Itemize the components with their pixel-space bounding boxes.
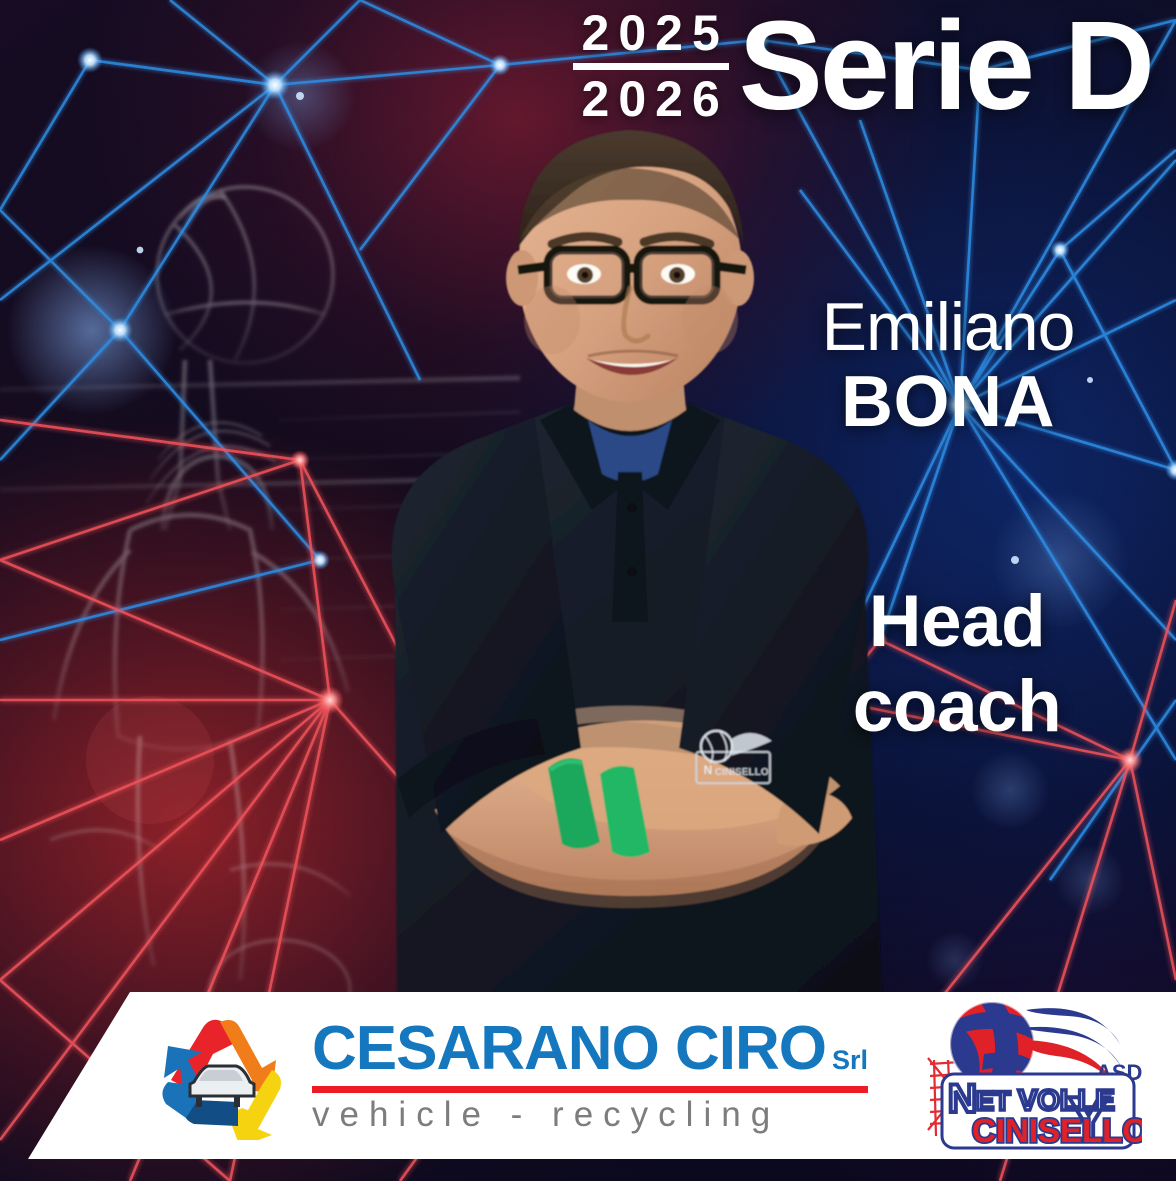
season-fraction: 2025 2026: [573, 8, 729, 124]
recycling-arrows-car-icon: [146, 1012, 296, 1140]
player-role-block: Head coach: [772, 580, 1142, 749]
player-name-block: Emiliano BONA: [748, 292, 1148, 440]
sponsor-tagline: vehicle - recycling: [312, 1096, 868, 1135]
club-logo[interactable]: ASD Y N ET VOLLE CINISELLO: [920, 998, 1142, 1158]
sponsor-name-row: CESARANO CIRO Srl: [312, 1018, 868, 1080]
club-name-city: CINISELLO: [972, 1112, 1142, 1149]
season-year-bottom: 2026: [573, 74, 729, 124]
player-role-line2: coach: [772, 665, 1142, 750]
sponsor-suffix: Srl: [832, 1047, 868, 1074]
season-year-top: 2025: [573, 8, 729, 58]
svg-text:CINISELLO: CINISELLO: [715, 767, 769, 778]
sponsor-divider-rule: [312, 1086, 868, 1093]
player-last-name: BONA: [748, 365, 1148, 441]
sponsor-text-block: CESARANO CIRO Srl vehicle - recycling: [312, 1018, 868, 1135]
sponsor-name: CESARANO CIRO: [312, 1018, 826, 1080]
poster-root: N CINISELLO 2025 2026 Serie D Emiliano B…: [0, 0, 1176, 1181]
league-title: Serie D: [739, 8, 1152, 124]
coach-photo: N CINISELLO: [300, 120, 960, 1020]
footer-banner: CESARANO CIRO Srl vehicle - recycling: [0, 992, 1176, 1159]
season-divider-bar: [573, 63, 729, 70]
sponsor-block[interactable]: CESARANO CIRO Srl vehicle - recycling: [146, 1012, 868, 1140]
player-first-name: Emiliano: [748, 292, 1148, 363]
player-role-line1: Head: [772, 580, 1142, 665]
header-season-league: 2025 2026 Serie D: [573, 8, 1152, 124]
svg-text:N: N: [704, 763, 713, 777]
